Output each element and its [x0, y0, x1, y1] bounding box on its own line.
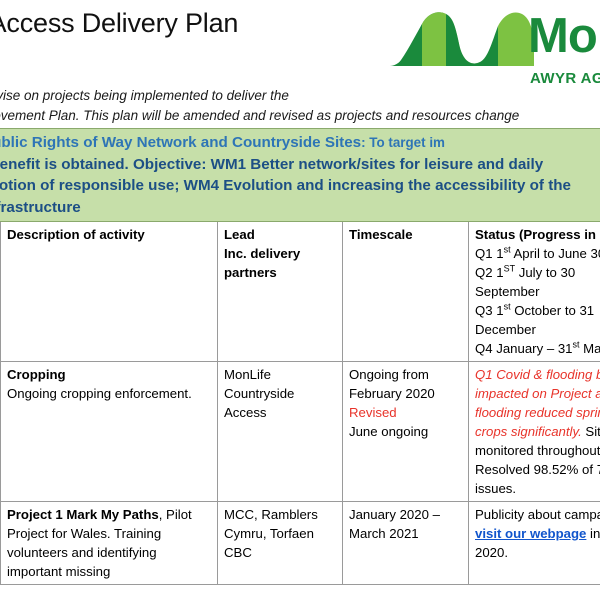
row-timescale-cell: Ongoing from February 2020 Revised June …: [343, 362, 469, 502]
column-header-lead: Lead Inc. delivery partners: [218, 222, 343, 362]
row-status-cell: Q1 Covid & flooding both impacted on Pro…: [469, 362, 600, 502]
column-header-lead-sub-1: Inc. delivery: [224, 244, 337, 263]
objective-banner: ed Public Rights of Way Network and Coun…: [0, 128, 600, 222]
visit-our-webpage-link[interactable]: visit our webpage: [475, 526, 586, 541]
status-quarter-q3: Q3 1st October to 31 December: [475, 301, 600, 339]
row-status-prefix: Publicity about campaign: [475, 507, 600, 522]
banner-heading-rest: : To target im: [361, 135, 445, 150]
row-lead-cell: MonLife Countryside Access: [218, 362, 343, 502]
column-header-status: Status (Progress in italics) Q1 1st Apri…: [469, 222, 600, 362]
banner-heading: ed Public Rights of Way Network and Coun…: [0, 134, 361, 151]
row-timescale-cell: January 2020 – March 2021: [343, 502, 469, 585]
column-header-status-label: Status (Progress in italics): [475, 225, 600, 244]
status-quarter-q2: Q2 1ST July to 30 September: [475, 263, 600, 301]
column-header-lead-label: Lead: [224, 225, 337, 244]
column-header-timescale-label: Timescale: [349, 227, 413, 242]
banner-line-3: Promotion of responsible use; WM4 Evolut…: [0, 175, 600, 197]
banner-line-1: ed Public Rights of Way Network and Coun…: [0, 132, 600, 154]
row-description-title: Cropping: [7, 365, 212, 384]
column-header-description: Description of activity: [1, 222, 218, 362]
row-description-text: Ongoing cropping enforcement.: [7, 384, 212, 403]
row-status-cell: Publicity about campaign visit our webpa…: [469, 502, 600, 585]
table-header-row: Description of activity Lead Inc. delive…: [1, 222, 600, 362]
row-description-cell: Cropping Ongoing cropping enforcement.: [1, 362, 218, 502]
activity-table: Description of activity Lead Inc. delive…: [0, 222, 600, 585]
monlife-logo: Mo AWYR AGOR: [388, 8, 600, 103]
logo-tagline: AWYR AGOR: [530, 70, 600, 87]
row-timescale-line-1: Ongoing from February 2020: [349, 365, 463, 403]
column-header-timescale: Timescale: [343, 222, 469, 362]
row-lead-cell: MCC, Ramblers Cymru, Torfaen CBC: [218, 502, 343, 585]
row-description-cell: Project 1 Mark My Paths, Pilot Project f…: [1, 502, 218, 585]
objective-banner-text: ed Public Rights of Way Network and Coun…: [0, 132, 600, 218]
intro-line-2: mprovement Plan. This plan will be amend…: [0, 106, 519, 126]
banner-line-2: blic benefit is obtained. Objective: WM1…: [0, 154, 600, 176]
document-header: e Access Delivery Plan . o advise on pro…: [0, 0, 600, 128]
table-row: Project 1 Mark My Paths, Pilot Project f…: [1, 502, 600, 585]
status-quarter-q1: Q1 1st April to June 30th: [475, 244, 600, 263]
column-header-lead-sub-2: partners: [224, 263, 337, 282]
status-quarter-q4: Q4 January – 31st March: [475, 339, 600, 358]
row-timescale-line-2: June ongoing: [349, 422, 463, 441]
row-description-title: Project 1 Mark My Paths: [7, 507, 159, 522]
logo-wordmark: Mo: [528, 12, 597, 61]
banner-line-4: en Infrastructure: [0, 197, 600, 219]
table-row: Cropping Ongoing cropping enforcement. M…: [1, 362, 600, 502]
column-header-description-label: Description of activity: [7, 227, 145, 242]
page-title: e Access Delivery Plan: [0, 8, 238, 39]
row-timescale-revised: Revised: [349, 403, 463, 422]
monlife-ribbon-m-icon: [388, 8, 536, 70]
